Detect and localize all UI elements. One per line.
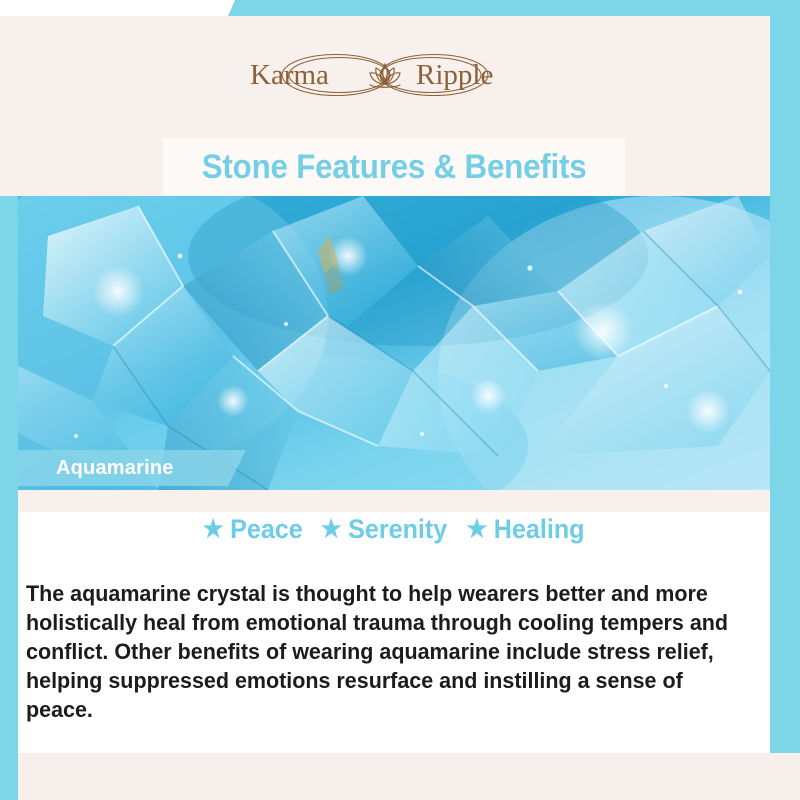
stone-name-label: Aquamarine <box>18 457 174 480</box>
star-icon: ★ <box>203 517 224 542</box>
keyword-item-serenity: ★ Serenity <box>321 516 447 543</box>
infographic-card: Karma Ripple Stone Features & Benefits <box>0 0 800 800</box>
lotus-infinity-icon: Karma Ripple <box>240 44 530 106</box>
star-icon: ★ <box>321 517 342 542</box>
brand-word-right: Ripple <box>416 59 493 91</box>
frame-accent-right <box>770 0 800 800</box>
stone-name-tag: Aquamarine <box>18 450 246 486</box>
page-title: Stone Features & Benefits <box>202 150 587 184</box>
frame-accent-left <box>0 118 18 800</box>
mid-background-panel <box>18 488 770 512</box>
keyword-label: Peace <box>230 516 303 543</box>
keyword-item-healing: ★ Healing <box>467 516 585 543</box>
crystal-photo <box>18 196 770 490</box>
crystal-photo-image <box>18 196 770 490</box>
title-banner: Stone Features & Benefits <box>163 138 625 196</box>
star-icon: ★ <box>467 517 488 542</box>
keyword-label: Healing <box>494 516 585 543</box>
footer-background-panel <box>18 753 800 800</box>
brand-logo: Karma Ripple <box>0 42 770 108</box>
keyword-label: Serenity <box>348 516 447 543</box>
brand-word-left: Karma <box>250 59 329 91</box>
stone-description: The aquamarine crystal is thought to hel… <box>26 579 735 724</box>
keyword-list: ★ Peace ★ Serenity ★ Healing <box>18 516 770 543</box>
keyword-item-peace: ★ Peace <box>203 516 303 543</box>
